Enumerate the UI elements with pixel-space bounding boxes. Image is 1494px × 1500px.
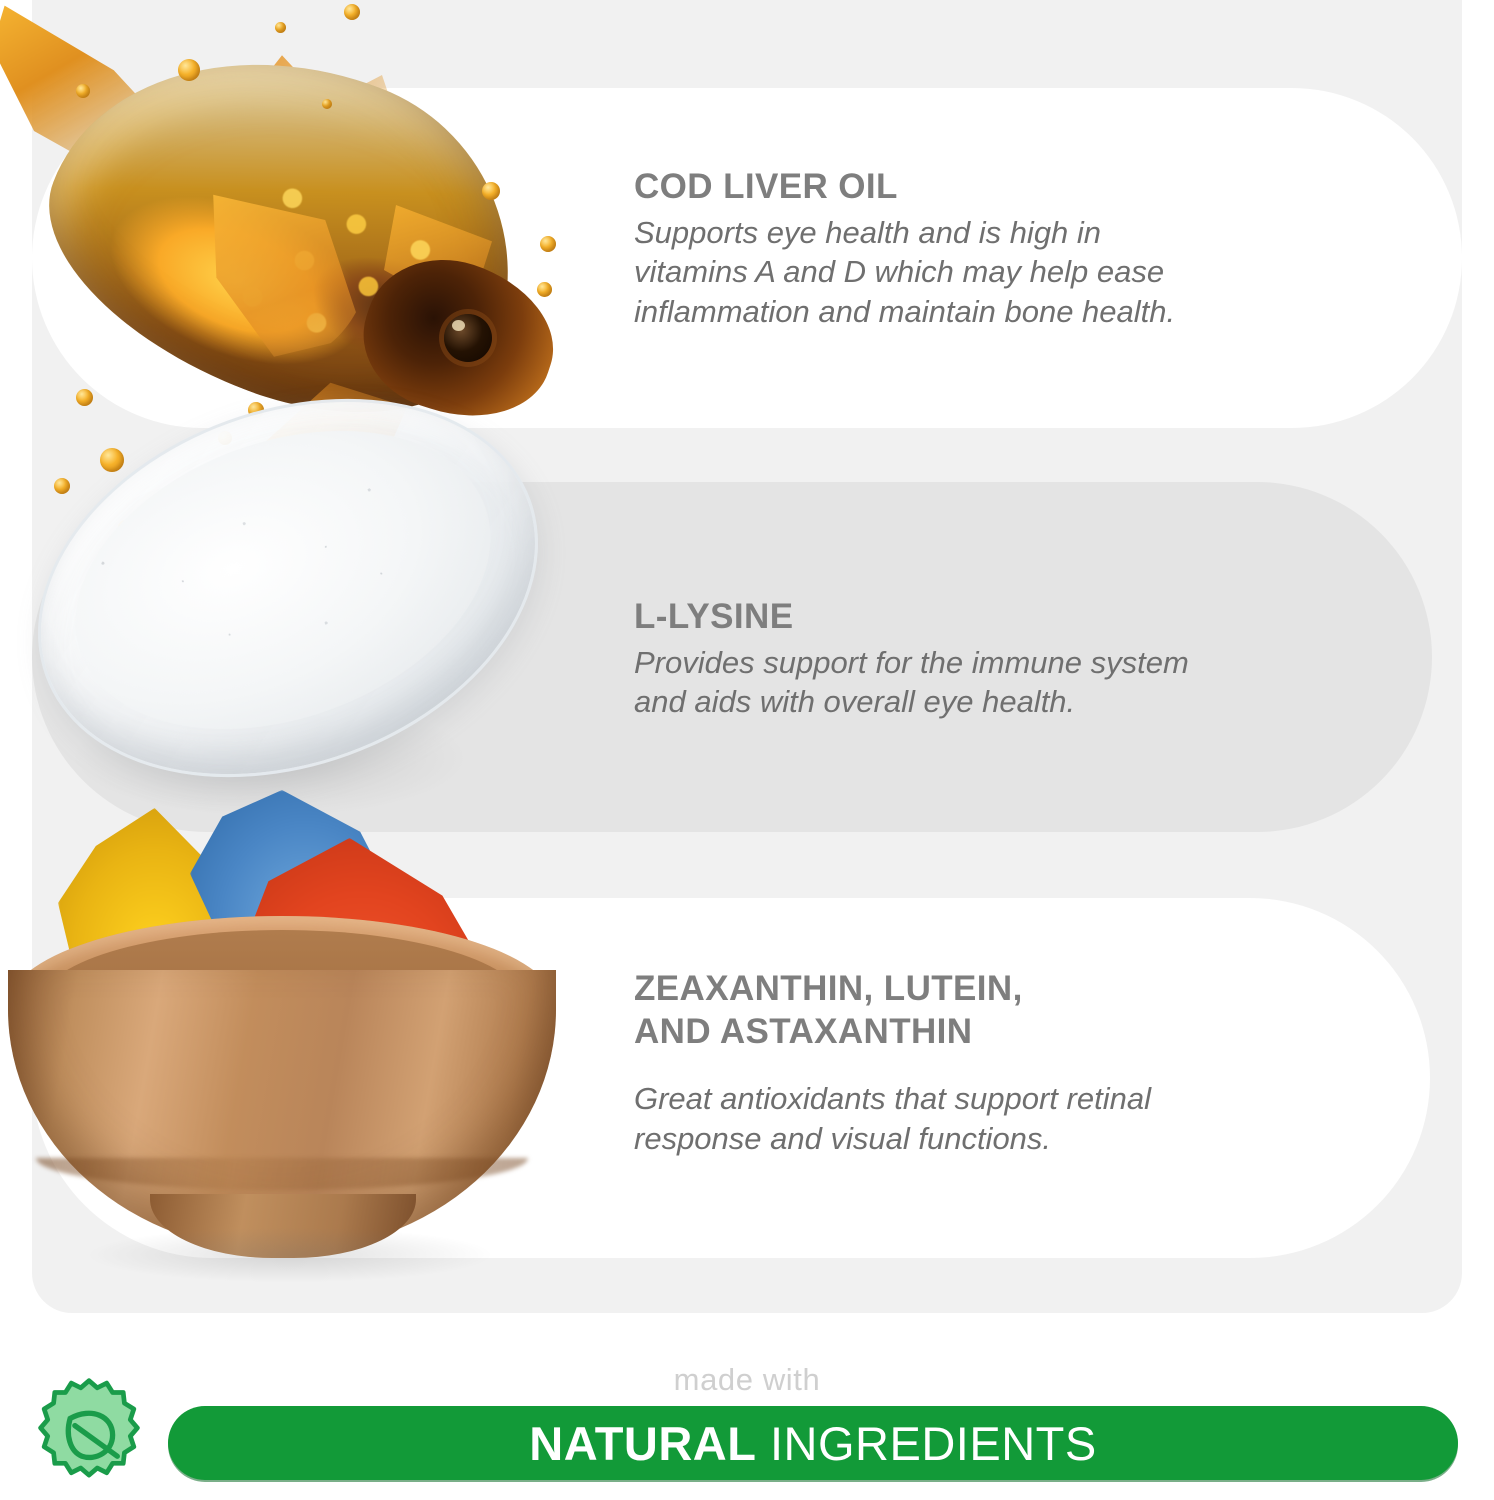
ingredient-description: Great antioxidants that support retinal … bbox=[634, 1079, 1344, 1158]
oil-droplet bbox=[322, 99, 332, 109]
oil-droplet bbox=[482, 182, 500, 200]
oil-droplet bbox=[178, 59, 200, 81]
banner-strong-word: NATURAL bbox=[529, 1417, 756, 1470]
oil-droplet bbox=[76, 84, 90, 98]
ingredient-text-cod-liver-oil: COD LIVER OIL Supports eye health and is… bbox=[634, 166, 1374, 332]
oil-droplet bbox=[537, 282, 552, 297]
ingredient-title: COD LIVER OIL bbox=[634, 166, 1374, 209]
ingredient-text-l-lysine: L-LYSINE Provides support for the immune… bbox=[634, 596, 1354, 722]
ingredient-description: Supports eye health and is high in vitam… bbox=[634, 213, 1374, 332]
ingredient-text-carotenoids: ZEAXANTHIN, LUTEIN, AND ASTAXANTHIN Grea… bbox=[634, 968, 1344, 1159]
oil-droplet bbox=[275, 22, 286, 33]
ingredient-title: ZEAXANTHIN, LUTEIN, AND ASTAXANTHIN bbox=[634, 968, 1344, 1053]
colored-powder-bowl-image bbox=[0, 790, 600, 1270]
made-with-label: made with bbox=[0, 1362, 1494, 1398]
ingredient-description: Provides support for the immune system a… bbox=[634, 643, 1354, 722]
bowl-shadow bbox=[90, 1228, 490, 1282]
white-powder-dish-image bbox=[10, 398, 570, 858]
banner-text: NATURAL INGREDIENTS bbox=[529, 1416, 1096, 1471]
natural-ingredients-banner: NATURAL INGREDIENTS bbox=[168, 1406, 1458, 1480]
leaf-badge-icon bbox=[30, 1376, 148, 1494]
fish-eye bbox=[444, 314, 492, 362]
banner-light-word: INGREDIENTS bbox=[756, 1417, 1096, 1470]
oil-droplet bbox=[540, 236, 556, 252]
ingredient-title: L-LYSINE bbox=[634, 596, 1354, 639]
oil-droplet bbox=[344, 4, 360, 20]
